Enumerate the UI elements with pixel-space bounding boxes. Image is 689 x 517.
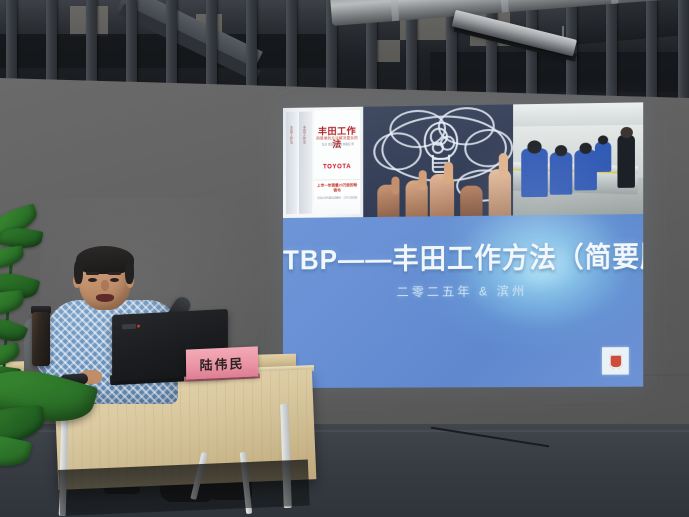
worker-figure <box>550 152 573 195</box>
presenter-nose <box>101 280 109 291</box>
gear-icon <box>432 142 444 154</box>
book-band-subtext: 丰田公司内部培训教材 · 工作方法指南 <box>316 196 358 200</box>
book-band-headline: 上市一年销量20万册的畅销书 <box>316 183 358 194</box>
logo-mark-icon <box>609 354 622 368</box>
book-spine-text: 丰田工作法 <box>286 126 293 145</box>
thumb-icon <box>391 177 399 195</box>
workshop-ceiling <box>513 102 643 126</box>
presenter-mouth <box>96 294 114 302</box>
projected-slide[interactable]: 丰田工作法 丰田工作法 丰田工作法 用简单的方法解决复杂的工作 【日】原田武彦 … <box>283 102 643 388</box>
slide-image-band: 丰田工作法 丰田工作法 丰田工作法 用简单的方法解决复杂的工作 【日】原田武彦 … <box>283 102 643 218</box>
slide-company-logo <box>602 347 629 375</box>
slide-title: TBP——丰田工作方法（简要版） <box>283 235 643 278</box>
lecture-room-scene: 丰田工作法 丰田工作法 丰田工作法 用简单的方法解决复杂的工作 【日】原田武彦 … <box>0 0 689 517</box>
laptop-brand-logo <box>122 324 136 330</box>
thumb-icon <box>419 170 427 190</box>
inspector-figure <box>617 135 634 188</box>
book-front-cover: 丰田工作法 用简单的方法解决复杂的工作 【日】原田武彦 著 刘格安 译 TOYO… <box>314 110 360 215</box>
plant-leaf <box>0 245 25 269</box>
thumbs-up-hand <box>460 186 482 217</box>
thumb-icon <box>444 162 453 184</box>
plant-leaf <box>0 290 25 316</box>
slide-image-book-cover: 丰田工作法 丰田工作法 丰田工作法 用简单的方法解决复杂的工作 【日】原田武彦 … <box>283 107 363 218</box>
ceiling-slat <box>646 0 657 104</box>
slide-subtitle: 二零二五年 & 滨州 <box>283 281 643 301</box>
laptop-logo-dot <box>137 325 140 328</box>
thumb-icon <box>499 153 508 179</box>
worker-figure <box>521 148 548 197</box>
ceiling-slat <box>486 0 497 104</box>
presenter-eye <box>110 278 119 282</box>
ceiling-slat <box>678 0 689 104</box>
worker-figure <box>574 150 597 191</box>
toyota-wordmark: TOYOTA <box>316 164 358 171</box>
worker-figure <box>595 141 611 172</box>
slide-image-chalkboard <box>363 104 513 217</box>
presenter-hair-side <box>125 260 134 284</box>
duct-ring <box>609 0 618 4</box>
presenter-nameplate: 陆伟民 <box>186 346 258 379</box>
duct-ring <box>499 0 508 13</box>
book-byline: 【日】原田武彦 著 刘格安 译 <box>316 142 358 147</box>
nameplate-text: 陆伟民 <box>199 352 244 373</box>
book-spine: 丰田工作法 <box>299 112 312 214</box>
duct-ring <box>390 0 399 21</box>
book-obi-band: 上市一年销量20万册的畅销书 丰田公司内部培训教材 · 工作方法指南 <box>314 179 360 215</box>
book-spine: 丰田工作法 <box>286 112 297 214</box>
slide-image-workshop <box>513 102 643 215</box>
book-spine-text: 丰田工作法 <box>299 126 306 145</box>
ceiling-slat <box>606 0 617 104</box>
presenter-brow <box>108 272 121 275</box>
